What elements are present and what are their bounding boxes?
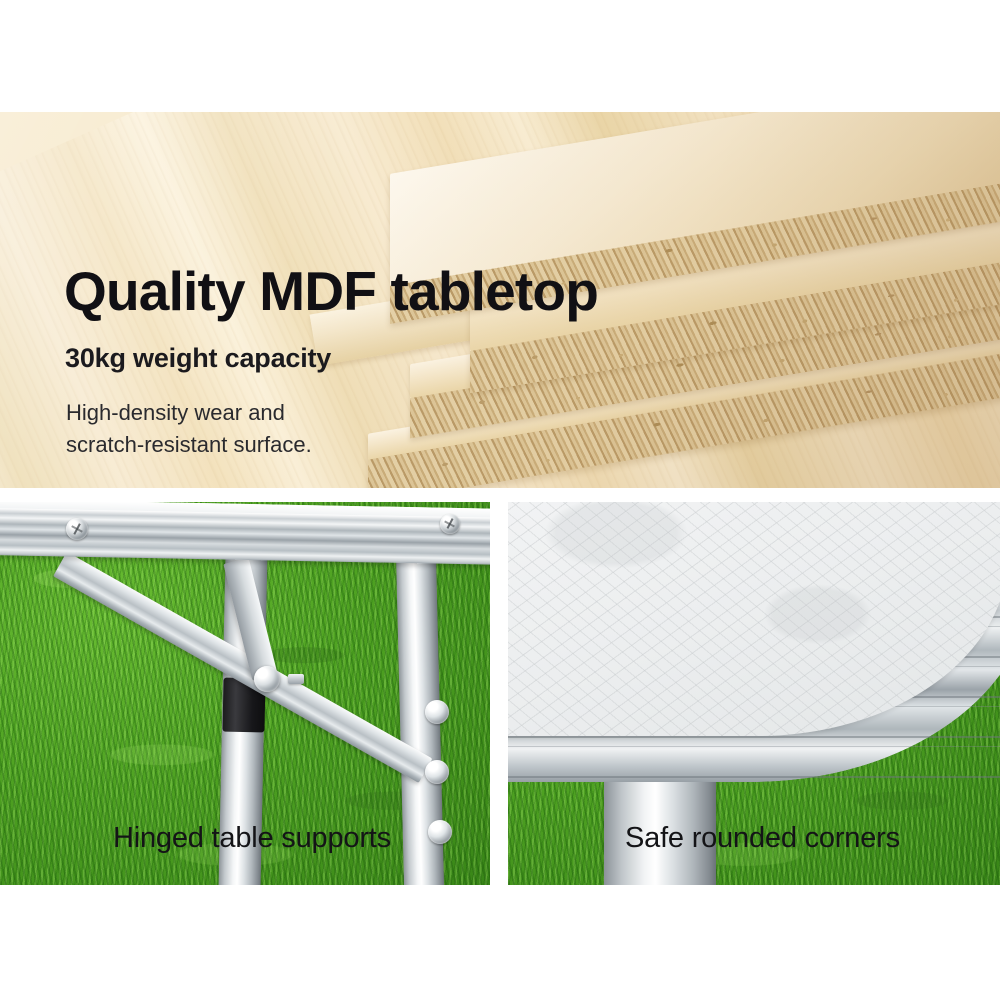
caption-rounded-corners: Safe rounded corners <box>625 824 900 853</box>
rail-screw <box>440 514 460 534</box>
feature-subtitle: 30kg weight capacity <box>65 345 331 372</box>
leg-rivet <box>425 760 449 784</box>
feature-description: High-density wear and scratch-resistant … <box>66 397 312 461</box>
feature-description-line-2: scratch-resistant surface. <box>66 429 312 461</box>
infographic-canvas: Quality MDF tabletop 30kg weight capacit… <box>0 0 1000 1000</box>
mdf-tabletop-panel: Quality MDF tabletop 30kg weight capacit… <box>0 112 1000 488</box>
leg-rivet <box>428 820 452 844</box>
feature-description-line-1: High-density wear and <box>66 397 312 429</box>
hinge-pivot-bolt <box>254 666 280 692</box>
caption-hinged-supports: Hinged table supports <box>113 824 391 853</box>
leg-rivet <box>425 700 449 724</box>
hinge-latch <box>288 674 304 684</box>
rail-screw <box>66 518 88 540</box>
feature-title: Quality MDF tabletop <box>64 264 598 319</box>
